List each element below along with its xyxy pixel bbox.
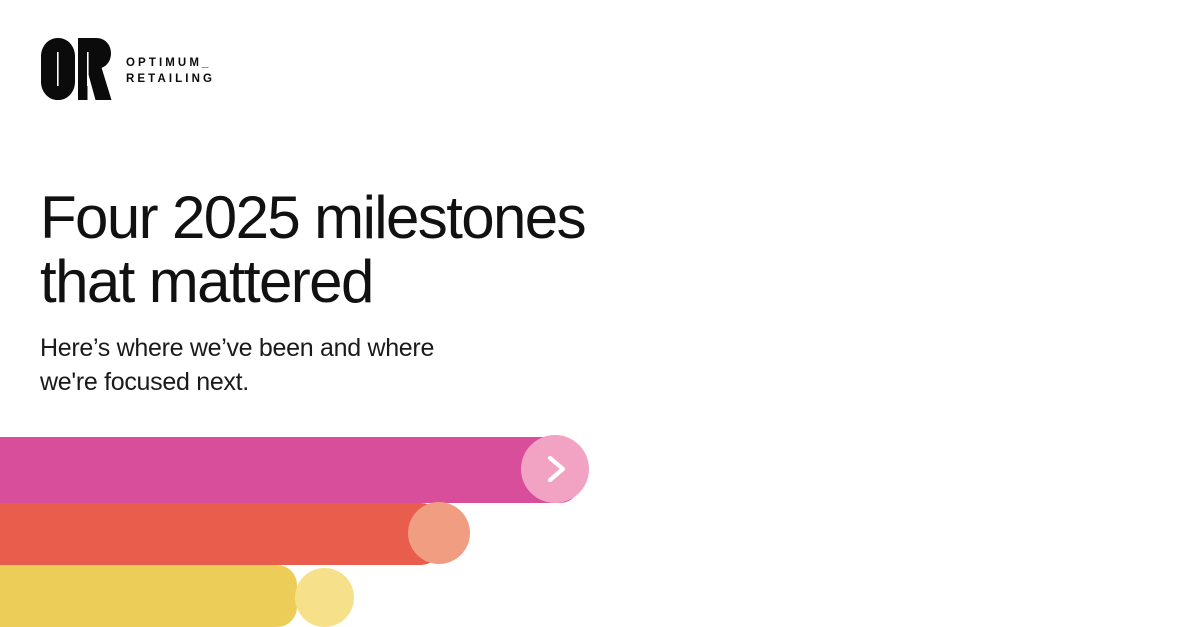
page-title: Four 2025 milestones that mattered [40, 188, 660, 312]
subtitle-line-2: we're focused next. [40, 365, 580, 399]
wordmark-line-1: OPTIMUM_ [126, 58, 215, 70]
brand-logo: OPTIMUM_ RETAILING [40, 38, 215, 105]
pale-yellow-dot [295, 568, 354, 627]
subtitle-line-1: Here’s where we’ve been and where [40, 331, 580, 365]
headline-line-2: that mattered [40, 252, 660, 312]
magenta-bar [0, 437, 580, 503]
chevron-right-icon [541, 454, 570, 484]
salmon-dot [408, 502, 470, 564]
headline-line-1: Four 2025 milestones [40, 188, 660, 248]
yellow-bar [0, 565, 297, 627]
red-bar [0, 503, 441, 565]
or-monogram-icon [40, 38, 112, 105]
wordmark-line-2: RETAILING [126, 74, 215, 86]
next-button[interactable] [521, 435, 589, 503]
brand-wordmark: OPTIMUM_ RETAILING [126, 58, 215, 86]
promo-card: OPTIMUM_ RETAILING Four 2025 milestones … [0, 0, 1200, 627]
color-bar-graphic [0, 437, 1200, 627]
page-subtitle: Here’s where we’ve been and where we're … [40, 331, 580, 399]
